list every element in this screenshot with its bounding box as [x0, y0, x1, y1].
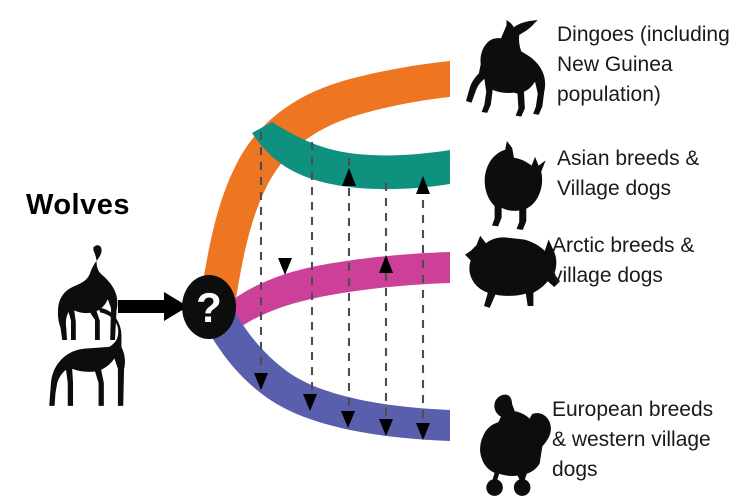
branch-label-european: European breeds & western village dogs [552, 395, 713, 485]
arrow-shaft [118, 300, 166, 313]
branch-label-arctic: Arctic breeds & village dogs [552, 231, 694, 291]
page-title: Wolves [26, 189, 130, 222]
branch-label-dingoes: Dingoes (including New Guinea population… [557, 20, 730, 110]
root-node-symbol: ? [196, 284, 222, 331]
root-unknown-node[interactable]: ? [182, 275, 236, 339]
branch-label-asian: Asian breeds & Village dogs [557, 144, 699, 204]
